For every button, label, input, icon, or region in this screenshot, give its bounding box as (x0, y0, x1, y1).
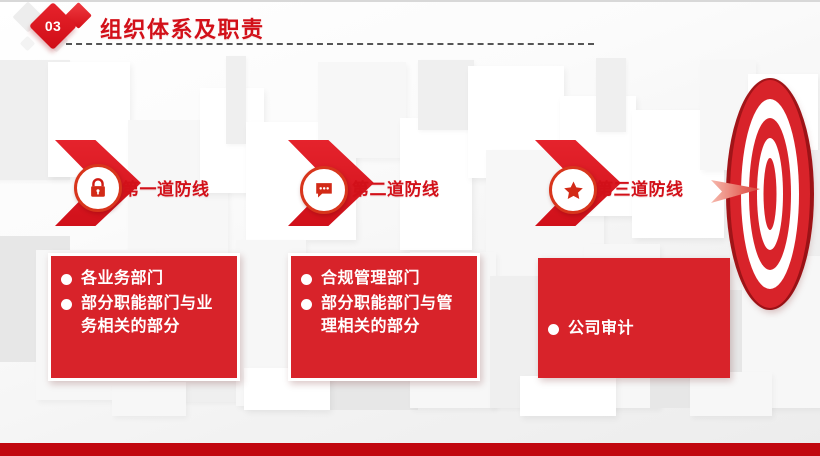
section-number-label: 03 (36, 9, 70, 43)
bg-shape (596, 58, 626, 132)
list-item-label: 部分职能部门与业务相关的部分 (81, 292, 229, 338)
arrow-hitting-target-icon (710, 172, 764, 206)
bullseye-target-icon (726, 78, 814, 310)
list-item: 部分职能部门与管理相关的部分 (299, 292, 469, 338)
presentation-slide: 03 组织体系及职责 第一道防线 各业务部门 部分职能部门与业务相关的部分 (0, 0, 820, 456)
page-title: 组织体系及职责 (100, 12, 265, 44)
target-bullseye-center (764, 158, 777, 230)
bg-shape (418, 60, 474, 130)
lock-icon (74, 164, 122, 212)
list-item: 公司审计 (546, 317, 634, 340)
list-item: 合规管理部门 (299, 267, 469, 290)
defense-line-label-1: 第一道防线 (122, 175, 210, 200)
bottom-accent-bar (0, 443, 820, 456)
list-item-label: 部分职能部门与管理相关的部分 (321, 292, 469, 338)
list-item-label: 公司审计 (568, 317, 634, 340)
bullet-icon (548, 324, 559, 335)
section-number-badge: 03 (14, 2, 100, 58)
bullet-icon (301, 299, 312, 310)
list-item: 各业务部门 (59, 267, 229, 290)
list-item-label: 各业务部门 (81, 267, 229, 290)
bullet-icon (61, 274, 72, 285)
defense-line-card-3: 公司审计 (538, 258, 730, 378)
bullet-icon (301, 274, 312, 285)
list-item: 部分职能部门与业务相关的部分 (59, 292, 229, 338)
defense-line-card-2: 合规管理部门 部分职能部门与管理相关的部分 (288, 253, 480, 381)
defense-line-label-2: 第二道防线 (352, 175, 440, 200)
bg-shape (112, 382, 186, 416)
title-underline (66, 43, 594, 45)
defense-line-label-3: 第三道防线 (596, 175, 684, 200)
bullet-icon (61, 299, 72, 310)
defense-line-card-1: 各业务部门 部分职能部门与业务相关的部分 (48, 253, 240, 381)
star-icon (549, 166, 597, 214)
slide-header: 03 组织体系及职责 (0, 0, 640, 60)
speech-bubble-icon (300, 166, 348, 214)
list-item-label: 合规管理部门 (321, 267, 469, 290)
diamond-decoration-icon (20, 36, 36, 52)
bg-shape (226, 56, 246, 144)
